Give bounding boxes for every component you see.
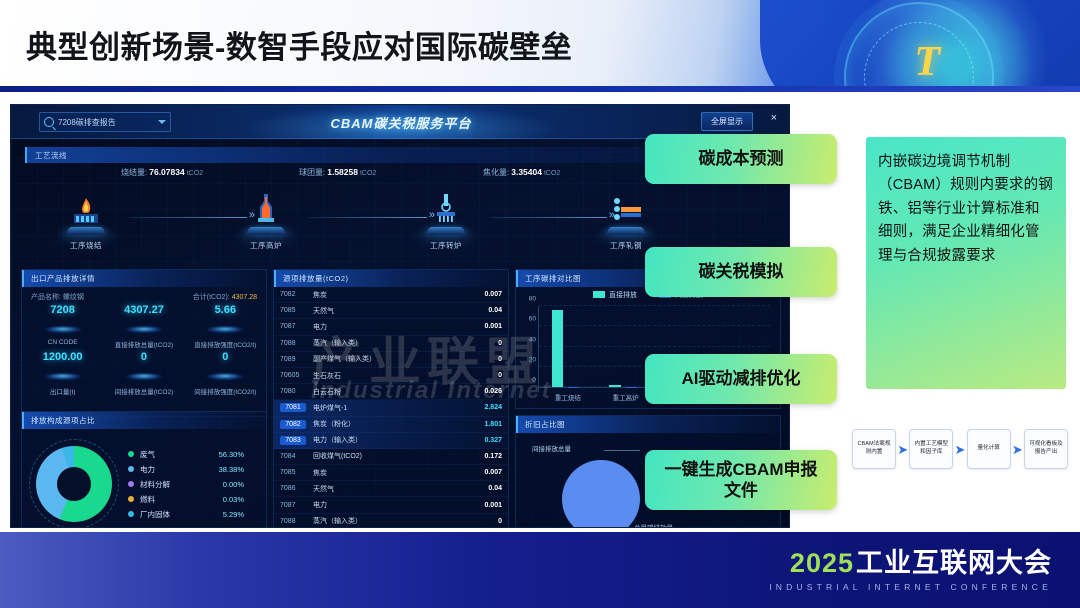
conference-name-row: 2025工业互联网大会 bbox=[769, 550, 1052, 577]
metric-unit: tCO2 bbox=[187, 170, 203, 177]
table-row[interactable]: 7082焦炭0.007 bbox=[274, 287, 508, 303]
row-value: 2.824 bbox=[484, 404, 502, 411]
kpi-label: 间接排放强度(tCO2/t) bbox=[185, 386, 266, 396]
flow-chip-rules[interactable]: CBAM法案规则内置 bbox=[852, 429, 896, 469]
total-label: 合计(tCO2): 4307.28 bbox=[193, 292, 257, 302]
flow-node-rolling[interactable]: 工序轧钢 bbox=[583, 193, 669, 251]
legend-swatch bbox=[128, 511, 134, 517]
flow-node-base bbox=[425, 227, 466, 235]
rolling-mill-icon bbox=[602, 193, 650, 237]
gridline bbox=[539, 305, 770, 306]
flow-node-base bbox=[245, 227, 286, 235]
kpi-value: 7208 bbox=[22, 304, 103, 316]
conference-name-en: INDUSTRIAL INTERNET CONFERENCE bbox=[769, 582, 1052, 592]
total-value: 4307.28 bbox=[232, 294, 257, 301]
pie-label-c: 总量碳排放量 bbox=[634, 522, 673, 528]
row-code: 7084 bbox=[280, 453, 306, 460]
legend-swatch bbox=[128, 451, 134, 457]
fullscreen-button[interactable]: 全屏显示 bbox=[701, 112, 753, 131]
row-value: 0.04 bbox=[488, 485, 502, 492]
conference-logo: 2025工业互联网大会 INDUSTRIAL INTERNET CONFEREN… bbox=[769, 550, 1052, 592]
kpi-pedestal-icon bbox=[122, 365, 166, 385]
flow-node-label: 工序烧结 bbox=[43, 240, 129, 251]
kpi-value: 0 bbox=[185, 351, 266, 363]
row-name: 生石灰石 bbox=[313, 371, 498, 381]
table-row[interactable]: 7081电炉煤气-12.824 bbox=[274, 400, 508, 416]
metric-label: 焦化量: bbox=[483, 168, 509, 177]
bar bbox=[609, 385, 621, 387]
row-value: 0 bbox=[498, 340, 502, 347]
legend-label: 材料分解 bbox=[140, 479, 204, 490]
row-value: 0.04 bbox=[488, 307, 502, 314]
slide-body: 7208碳排查报告 CBAM碳关税服务平台 全屏显示 × 工艺流线 烧结量:76… bbox=[0, 92, 1080, 532]
slide-footer: 2025工业互联网大会 INDUSTRIAL INTERNET CONFEREN… bbox=[0, 532, 1080, 608]
row-value: 0.001 bbox=[484, 502, 502, 509]
x-axis-tick: 重工高炉 bbox=[613, 392, 639, 402]
panel-title: 工序碳排对比图 bbox=[525, 273, 581, 284]
metric-label: 烧结量: bbox=[121, 168, 147, 177]
legend-item: 电力 38.38% bbox=[128, 462, 266, 477]
legend-value: 5.29% bbox=[223, 510, 244, 519]
legend-swatch bbox=[128, 466, 134, 472]
row-code: 7086 bbox=[280, 485, 306, 492]
kpi-label: CN CODE bbox=[22, 339, 103, 346]
legend-item: 材料分解 0.00% bbox=[128, 477, 266, 492]
dashboard-title: CBAM碳关税服务平台 bbox=[11, 113, 790, 132]
row-name: 蒸汽（输入类） bbox=[313, 516, 498, 526]
metric-label: 球团量: bbox=[299, 168, 325, 177]
row-code: 7089 bbox=[280, 356, 306, 363]
row-code: 70605 bbox=[280, 372, 306, 379]
legend-label: 燃料 bbox=[140, 494, 204, 505]
row-code: 7080 bbox=[280, 388, 306, 395]
row-code: 7082 bbox=[280, 420, 306, 429]
kpi-value: 4307.27 bbox=[103, 304, 184, 316]
flow-chip-quantification[interactable]: 量化计算 bbox=[967, 429, 1011, 469]
donut-legend: 废气 56.30% 电力 38.38% 材料分解 0.00% bbox=[128, 447, 266, 522]
conference-logo-mark: T bbox=[914, 38, 940, 86]
table-row[interactable]: 7085焦炭0.007 bbox=[274, 465, 508, 481]
kpi-label: 出口量(t) bbox=[22, 386, 103, 396]
kpi-card: 4307.27 直接排放总量(tCO2) bbox=[103, 304, 184, 349]
row-value: 0.001 bbox=[484, 323, 502, 330]
kpi-card: 0 间接排放总量(tCO2) bbox=[103, 351, 184, 396]
panel-title: 出口产品排放详情 bbox=[31, 273, 95, 284]
legend-value: 38.38% bbox=[219, 465, 244, 474]
kpi-grid: 7208 CN CODE 4307.27 直接排放总量(tCO2) 5.66 直… bbox=[22, 304, 266, 398]
row-value: 0.172 bbox=[484, 453, 502, 460]
row-value: 0 bbox=[498, 372, 502, 379]
furnace-icon bbox=[62, 193, 110, 237]
row-code: 7082 bbox=[280, 291, 306, 298]
table-row[interactable]: 7082焦炭（粉化）1.801 bbox=[274, 417, 508, 433]
arrow-right-icon: ➤ bbox=[953, 443, 966, 456]
row-value: 0 bbox=[498, 356, 502, 363]
pie-leader-line bbox=[604, 450, 640, 451]
row-name: 蒸汽（输入类） bbox=[313, 338, 498, 348]
table-row[interactable]: 70605生石灰石0 bbox=[274, 368, 508, 384]
donut-chart-area: 废气 56.30% 电力 38.38% 材料分解 0.00% bbox=[22, 432, 266, 528]
row-name: 天然气 bbox=[313, 484, 488, 494]
y-axis-tick: 60 bbox=[519, 316, 536, 323]
callout-ai-emission-optimization[interactable]: AI驱动减排优化 bbox=[645, 354, 837, 404]
kpi-pedestal-icon bbox=[203, 365, 247, 385]
metric-unit: tCO2 bbox=[544, 170, 560, 177]
slide-header: T 典型创新场景-数智手段应对国际碳壁垒 bbox=[0, 0, 1080, 86]
table-row[interactable]: 7084回收煤气(tCO2)0.172 bbox=[274, 449, 508, 465]
source-emission-table-panel: 源项排放量(tCO2) 7082焦炭0.0077085天然气0.047087电力… bbox=[273, 269, 509, 528]
legend-item: 直接排放 bbox=[593, 290, 637, 300]
callout-carbon-cost-forecast[interactable]: 碳成本预测 bbox=[645, 134, 837, 184]
row-name: 电炉煤气-1 bbox=[313, 403, 484, 413]
kpi-card: 1200.00 出口量(t) bbox=[22, 351, 103, 396]
y-axis-tick: 0 bbox=[519, 377, 536, 384]
blast-furnace-icon bbox=[242, 193, 290, 237]
callout-label: AI驱动减排优化 bbox=[682, 368, 801, 389]
legend-item: 燃料 0.03% bbox=[128, 492, 266, 507]
emission-table[interactable]: 7082焦炭0.0077085天然气0.047087电力0.0017088蒸汽（… bbox=[274, 287, 508, 528]
table-row[interactable]: 7089副产煤气（输入类）0 bbox=[274, 352, 508, 368]
row-name: 电力 bbox=[313, 500, 484, 510]
legend-value: 0.03% bbox=[223, 495, 244, 504]
y-axis-tick: 20 bbox=[519, 356, 536, 363]
row-code: 7085 bbox=[280, 469, 306, 476]
callout-carbon-tariff-simulation[interactable]: 碳关税模拟 bbox=[645, 247, 837, 297]
panel-title: 排放构成源项占比 bbox=[31, 415, 95, 426]
gridline bbox=[539, 325, 770, 326]
callout-label: 碳成本预测 bbox=[699, 148, 784, 169]
row-name: 焦炭 bbox=[313, 290, 484, 300]
flow-chip-model-library[interactable]: 内置工艺模型和因子库 bbox=[909, 429, 953, 469]
x-axis-tick: 重工烧结 bbox=[555, 392, 581, 402]
table-row[interactable]: 7083电力（输入类）0.327 bbox=[274, 433, 508, 449]
legend-item: 厂内固体 5.29% bbox=[128, 507, 266, 522]
metric-value: 1.58258 bbox=[327, 167, 358, 177]
flow-node-sintering[interactable]: 工序烧结 bbox=[43, 193, 129, 251]
row-code: 7087 bbox=[280, 323, 306, 330]
kpi-label: 间接排放总量(tCO2) bbox=[103, 386, 184, 396]
callout-label: 一键生成CBAM申报文件 bbox=[661, 459, 821, 502]
process-line-label: 工艺流线 bbox=[35, 150, 67, 161]
row-name: 焦炭 bbox=[313, 468, 484, 478]
product-name-label: 产品名称: 螺纹钢 bbox=[31, 292, 84, 302]
page-title: 典型创新场景-数智手段应对国际碳壁垒 bbox=[26, 22, 572, 67]
table-row[interactable]: 7087电力0.001 bbox=[274, 497, 508, 513]
arrow-right-icon: ➤ bbox=[1011, 443, 1024, 456]
row-code: 7083 bbox=[280, 436, 306, 445]
converter-icon bbox=[422, 193, 470, 237]
kpi-pedestal-icon bbox=[41, 365, 85, 385]
panel-title: 折旧占比图 bbox=[525, 419, 565, 430]
pie-chart bbox=[562, 460, 640, 528]
row-code: 7088 bbox=[280, 340, 306, 347]
row-name: 电力 bbox=[313, 322, 484, 332]
bar bbox=[552, 310, 564, 387]
metric-value: 76.07834 bbox=[149, 167, 184, 177]
panel-header: 出口产品排放详情 bbox=[22, 270, 266, 287]
kpi-label: 直接排放总量(tCO2) bbox=[103, 339, 184, 349]
info-text-box: 内嵌碳边境调节机制（CBAM）规则内要求的钢铁、铝等行业计算标准和细则，满足企业… bbox=[866, 137, 1066, 389]
row-value: 0.327 bbox=[484, 437, 502, 444]
row-name: 副产煤气（输入类） bbox=[313, 354, 498, 364]
kpi-card: 7208 CN CODE bbox=[22, 304, 103, 349]
table-row[interactable]: 7088蒸汽（输入类）0 bbox=[274, 514, 508, 528]
row-code: 7088 bbox=[280, 518, 306, 525]
row-value: 0.007 bbox=[484, 291, 502, 298]
flow-node-base bbox=[65, 227, 106, 235]
row-value: 0.026 bbox=[484, 388, 502, 395]
donut-chart bbox=[36, 446, 112, 522]
flow-chip-visual-report[interactable]: 可视化看板及报告产出 bbox=[1024, 429, 1068, 469]
close-icon[interactable]: × bbox=[771, 113, 777, 124]
kpi-card: 5.66 直接排放强度(tCO2/t) bbox=[185, 304, 266, 349]
table-row[interactable]: 7087电力0.001 bbox=[274, 319, 508, 335]
row-code: 7087 bbox=[280, 502, 306, 509]
row-name: 白云石粉 bbox=[313, 387, 484, 397]
kpi-pedestal-icon bbox=[203, 318, 247, 338]
flow-node-converter[interactable]: 工序转炉 bbox=[403, 193, 489, 251]
row-value: 0.007 bbox=[484, 469, 502, 476]
total-caption: 合计(tCO2): bbox=[193, 294, 230, 301]
panel-header: 源项排放量(tCO2) bbox=[274, 270, 508, 287]
legend-swatch bbox=[128, 496, 134, 502]
kpi-value: 5.66 bbox=[185, 304, 266, 316]
flow-node-base bbox=[605, 227, 646, 235]
kpi-card: 0 间接排放强度(tCO2/t) bbox=[185, 351, 266, 396]
conference-year: 2025 bbox=[790, 548, 854, 578]
row-value: 1.801 bbox=[484, 421, 502, 428]
pie-label-a: 间接排放总量 bbox=[532, 443, 571, 453]
legend-value: 56.30% bbox=[219, 450, 244, 459]
emission-composition-panel: 排放构成源项占比 废气 56.30% 电力 38.38% bbox=[21, 411, 267, 528]
legend-value: 0.00% bbox=[223, 480, 244, 489]
metric-item: 焦化量:3.35404tCO2 bbox=[483, 167, 560, 178]
kpi-pedestal-icon bbox=[41, 318, 85, 338]
table-row[interactable]: 7086天然气0.04 bbox=[274, 481, 508, 497]
row-code: 7085 bbox=[280, 307, 306, 314]
capability-flow: CBAM法案规则内置 ➤ 内置工艺模型和因子库 ➤ 量化计算 ➤ 可视化看板及报… bbox=[852, 424, 1068, 474]
panel-header: 折旧占比图 bbox=[516, 416, 780, 433]
metric-item: 球团量:1.58258tCO2 bbox=[299, 167, 376, 178]
flow-node-label: 工序转炉 bbox=[403, 240, 489, 251]
panel-header: 排放构成源项占比 bbox=[22, 412, 266, 429]
table-row[interactable]: 7085天然气0.04 bbox=[274, 303, 508, 319]
legend-label: 电力 bbox=[140, 464, 204, 475]
y-axis-tick: 80 bbox=[519, 296, 536, 303]
table-row[interactable]: 7088蒸汽（输入类）0 bbox=[274, 336, 508, 352]
row-name: 焦炭（粉化） bbox=[313, 419, 484, 429]
callout-label: 碳关税模拟 bbox=[699, 261, 784, 282]
legend-label: 厂内固体 bbox=[140, 509, 204, 520]
row-value: 0 bbox=[498, 518, 502, 525]
row-name: 回收煤气(tCO2) bbox=[313, 451, 484, 461]
y-axis-tick: 40 bbox=[519, 336, 536, 343]
kpi-value: 0 bbox=[103, 351, 184, 363]
metric-item: 烧结量:76.07834tCO2 bbox=[121, 167, 203, 178]
row-name: 天然气 bbox=[313, 306, 488, 316]
callout-one-click-cbam-report[interactable]: 一键生成CBAM申报文件 bbox=[645, 450, 837, 510]
arrow-right-icon: ➤ bbox=[896, 443, 909, 456]
row-code: 7081 bbox=[280, 403, 306, 412]
legend-label: 废气 bbox=[140, 449, 204, 460]
donut-outer-ring bbox=[29, 439, 119, 528]
metric-value: 3.35404 bbox=[511, 167, 542, 177]
legend-label: 直接排放 bbox=[609, 292, 637, 299]
product-emission-panel: 出口产品排放详情 产品名称: 螺纹钢 合计(tCO2): 4307.28 720… bbox=[21, 269, 267, 417]
legend-swatch bbox=[593, 291, 605, 298]
legend-item: 废气 56.30% bbox=[128, 447, 266, 462]
kpi-value: 1200.00 bbox=[22, 351, 103, 363]
gridline bbox=[539, 346, 770, 347]
metric-unit: tCO2 bbox=[360, 170, 376, 177]
conference-name-cn: 工业互联网大会 bbox=[856, 548, 1052, 578]
panel-title: 源项排放量(tCO2) bbox=[283, 273, 349, 284]
flow-node-label: 工序高炉 bbox=[223, 240, 309, 251]
table-row[interactable]: 7080白云石粉0.026 bbox=[274, 384, 508, 400]
legend-swatch bbox=[128, 481, 134, 487]
flow-node-blast-furnace[interactable]: 工序高炉 bbox=[223, 193, 309, 251]
kpi-label: 直接排放强度(tCO2/t) bbox=[185, 339, 266, 349]
row-name: 电力（输入类） bbox=[313, 435, 484, 445]
kpi-pedestal-icon bbox=[122, 318, 166, 338]
